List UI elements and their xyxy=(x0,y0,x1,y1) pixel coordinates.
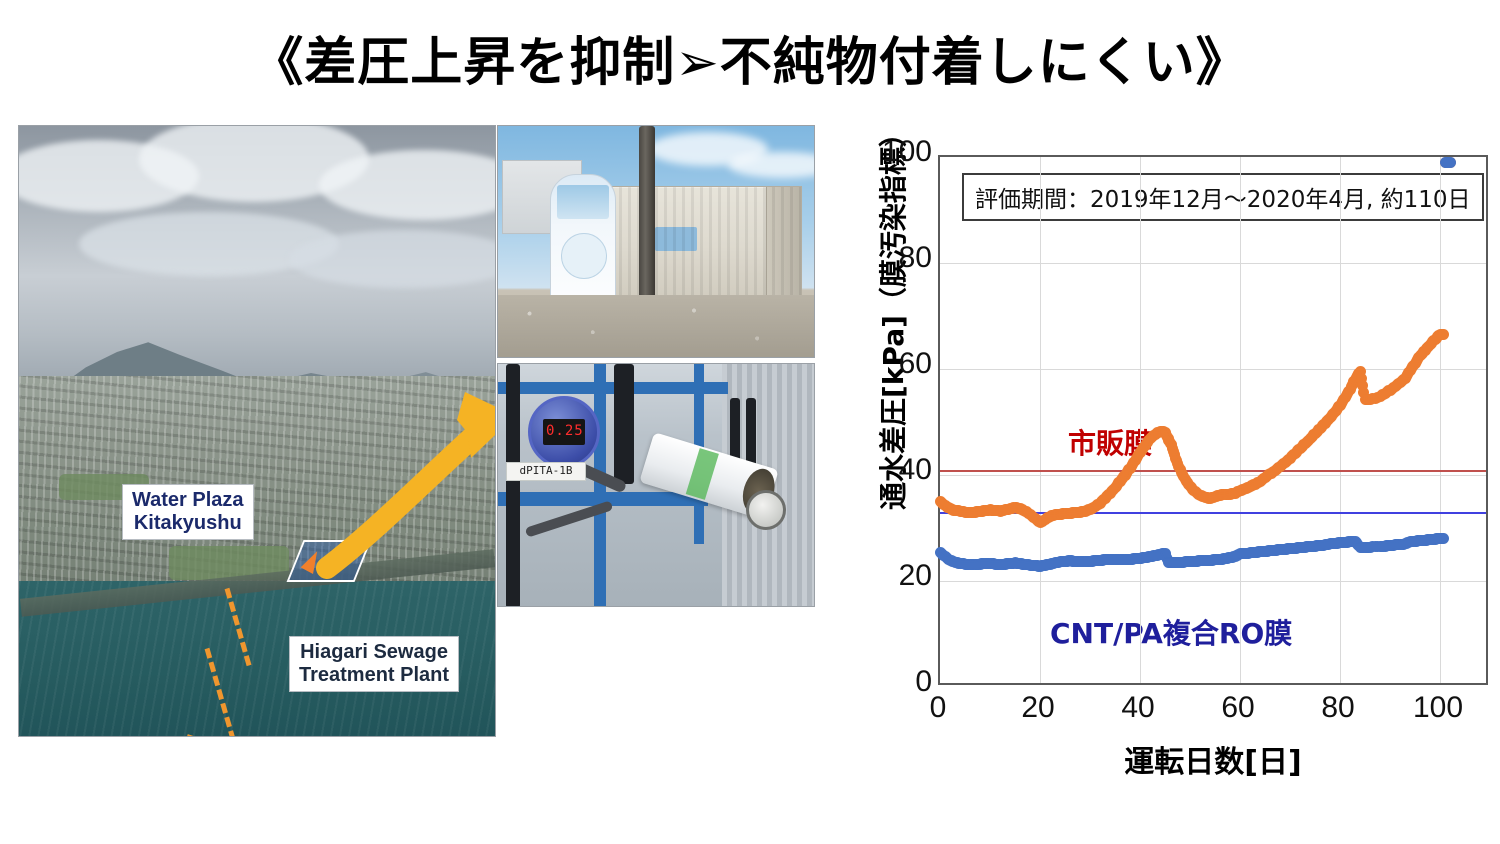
gauge-reading: 0.25 xyxy=(546,423,584,439)
x-tick-label: 40 xyxy=(1121,691,1154,725)
x-axis-label: 運転日数[日] xyxy=(938,737,1488,781)
y-tick-label: 40 xyxy=(862,453,932,487)
series-label-cnt: CNT/PA複合RO膜 xyxy=(1050,612,1292,652)
x-axis-ticks: 020406080100 xyxy=(938,691,1488,735)
aerial-photo-kitakyushu: ★ Water Plaza Kitakyushu Hiagari Sewage … xyxy=(18,125,496,737)
x-tick-label: 100 xyxy=(1413,691,1463,725)
black-pipe xyxy=(506,364,520,607)
label-hiagari-plant: Hiagari Sewage Treatment Plant xyxy=(289,636,459,692)
chart-region: 通水差圧[kPa]（膜汚染指標） 020406080100 評価期間：2019年… xyxy=(820,125,1488,815)
instrument-tag: dPITA-1B xyxy=(506,462,586,481)
gridline-horizontal xyxy=(940,475,1486,476)
container-door xyxy=(766,187,801,305)
x-tick-label: 60 xyxy=(1221,691,1254,725)
slide-root: 《差圧上昇を抑制➢不純物付着しにくい》 ★ Water Plaza xyxy=(0,0,1500,844)
gridline-vertical xyxy=(1140,157,1141,683)
y-tick-label: 20 xyxy=(862,559,932,593)
gauge-display: 0.25 xyxy=(543,419,585,445)
data-point-commercial xyxy=(1438,329,1449,340)
callout-arrow-icon xyxy=(289,354,496,584)
gridline-horizontal xyxy=(940,581,1486,582)
x-tick-label: 80 xyxy=(1321,691,1354,725)
data-point-cnt xyxy=(1438,533,1449,544)
reference-line xyxy=(940,470,1486,472)
gridline-vertical xyxy=(1240,157,1241,683)
y-axis-ticks: 020406080100 xyxy=(860,125,932,685)
container-logo xyxy=(655,227,697,251)
gridline-horizontal xyxy=(940,263,1486,264)
analog-pressure-dial xyxy=(746,490,786,530)
sign-circle-graphic xyxy=(561,233,607,279)
sign-graphic xyxy=(557,185,609,219)
gridline-vertical xyxy=(1040,157,1041,683)
page-title: 《差圧上昇を抑制➢不純物付着しにくい》 xyxy=(0,20,1500,95)
y-tick-label: 60 xyxy=(862,347,932,381)
gridline-vertical xyxy=(1440,157,1441,683)
y-tick-label: 100 xyxy=(862,135,932,169)
ro-equipment-photo: 0.25 dPITA-1B xyxy=(497,363,815,607)
cloud-shape xyxy=(728,152,815,178)
container-unit-photo xyxy=(497,125,815,358)
y-tick-label: 80 xyxy=(862,241,932,275)
data-point-cnt xyxy=(1445,157,1456,168)
black-pipe xyxy=(746,398,756,468)
black-pipe xyxy=(614,364,634,484)
plot-area: 評価期間：2019年12月〜2020年4月, 約110日 市販膜 CNT/PA複… xyxy=(938,155,1488,685)
vessel-band xyxy=(686,448,719,500)
x-tick-label: 20 xyxy=(1021,691,1054,725)
gridline-vertical xyxy=(1340,157,1341,683)
y-tick-label: 0 xyxy=(862,665,932,699)
x-tick-label: 0 xyxy=(930,691,947,725)
label-water-plaza: Water Plaza Kitakyushu xyxy=(122,484,254,540)
gravel-ground xyxy=(498,295,814,357)
pressure-transmitter: 0.25 xyxy=(528,396,600,468)
